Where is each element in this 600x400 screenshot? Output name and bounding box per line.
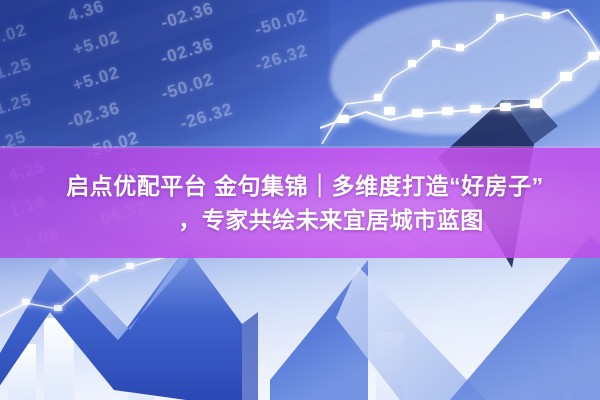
- glow-node: [432, 40, 440, 47]
- glow-node: [496, 14, 504, 21]
- glow-line-path: [322, 10, 600, 144]
- glow-node: [530, 99, 542, 108]
- glow-node: [338, 115, 349, 123]
- glow-node: [408, 60, 416, 67]
- glow-line-chart: [320, 8, 600, 158]
- glow-node: [470, 105, 481, 113]
- glow-node: [22, 299, 30, 305]
- glow-node: [442, 107, 453, 115]
- glow-node: [412, 109, 423, 117]
- glow-node: [384, 107, 395, 115]
- glow-node-group: [338, 12, 599, 123]
- glow-node: [374, 94, 382, 101]
- glow-node: [126, 263, 134, 269]
- headline-line-1: 启点优配平台 金句集锦｜多维度打造“好房子”: [56, 171, 543, 201]
- glow-node: [456, 44, 464, 51]
- glow-node: [90, 275, 98, 281]
- glow-node: [560, 72, 572, 81]
- headline-line-2: ，专家共绘未来宜居城市蓝图: [116, 205, 484, 235]
- ticker-value: 4.36: [66, 0, 107, 26]
- glow-node-group: [22, 263, 134, 311]
- glow-node: [542, 12, 550, 19]
- glow-line-path: [0, 257, 165, 319]
- glow-node: [500, 103, 511, 111]
- glow-line-path-secondary: [320, 48, 600, 128]
- banner-image: 21.15 45.02 4.36 -05.35 +45.02 4.36 1.02…: [0, 0, 600, 400]
- glow-line-chart-secondary: [0, 255, 165, 335]
- glow-node: [54, 305, 62, 311]
- glow-node: [588, 52, 599, 60]
- headline-text-block: 启点优配平台 金句集锦｜多维度打造“好房子” ，专家共绘未来宜居城市蓝图: [0, 148, 600, 258]
